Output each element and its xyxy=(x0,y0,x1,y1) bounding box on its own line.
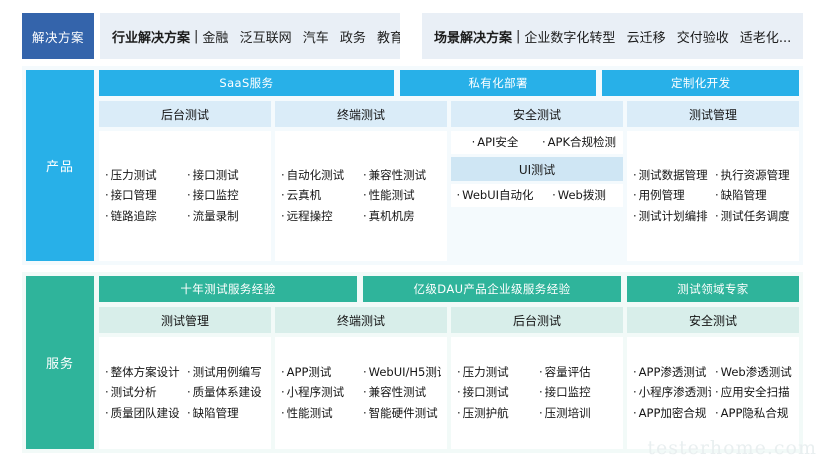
capability-item: 压测培训 xyxy=(539,407,617,420)
capability-item: 小程序渗透测试 xyxy=(633,386,711,399)
industry-tag[interactable]: 金融 xyxy=(202,31,228,46)
column-1: 后台测试压力测试接口测试接口管理接口监控链路追踪流量录制 xyxy=(99,101,271,261)
capability-list: 整体方案设计测试用例编写测试分析质量体系建设质量团队建设缺陷管理 xyxy=(105,366,265,420)
industry-tag-more[interactable]: 教育... xyxy=(377,31,400,46)
service-band: 十年测试服务经验 xyxy=(99,276,357,302)
product-band: 定制化开发 xyxy=(602,70,799,96)
column-body: API安全APK合规检测UI测试WebUI自动化Web拨测 xyxy=(451,131,623,261)
scene-tag[interactable]: 云迁移 xyxy=(627,31,666,46)
scene-tag[interactable]: 企业数字化转型 xyxy=(524,31,615,46)
column-body: 测试数据管理执行资源管理用例管理缺陷管理测试计划编排测试任务调度 xyxy=(627,131,799,261)
capability-item: 测试计划编排 xyxy=(633,210,711,223)
capability-list: 压力测试接口测试接口管理接口监控链路追踪流量录制 xyxy=(105,169,265,223)
capability-item: WebUI自动化 xyxy=(455,189,535,202)
capability-item: 接口测试 xyxy=(187,169,265,182)
capability-item: 质量团队建设 xyxy=(105,407,183,420)
service-panel: 服务 十年测试服务经验亿级DAU产品企业级服务经验测试领域专家 测试管理整体方案… xyxy=(22,272,803,453)
sub-section-header[interactable]: UI测试 xyxy=(451,157,623,181)
column-body: 压力测试容量评估接口测试接口监控压测护航压测培训 xyxy=(451,337,623,449)
column-body: 压力测试接口测试接口管理接口监控链路追踪流量录制 xyxy=(99,131,271,261)
capability-item: 性能测试 xyxy=(281,407,359,420)
capability-item: APP加密合规 xyxy=(633,407,711,420)
product-band: 私有化部署 xyxy=(400,70,597,96)
capability-item: 用例管理 xyxy=(633,189,711,202)
column-2: 终端测试自动化测试兼容性测试云真机性能测试远程操控真机机房 xyxy=(275,101,447,261)
column-header[interactable]: 安全测试 xyxy=(451,101,623,127)
scene-tag[interactable]: 交付验收 xyxy=(677,31,729,46)
capability-item: 接口监控 xyxy=(539,386,617,399)
capability-item: 执行资源管理 xyxy=(715,169,793,182)
capability-item: 缺陷管理 xyxy=(187,407,265,420)
column-header[interactable]: 安全测试 xyxy=(627,307,799,333)
capability-item: 压力测试 xyxy=(105,169,183,182)
capability-item: 接口管理 xyxy=(105,189,183,202)
industry-solutions-label: 行业解决方案 xyxy=(112,27,190,46)
capability-item: 链路追踪 xyxy=(105,210,183,223)
scene-solutions-group: 场景解决方案 | 企业数字化转型 云迁移 交付验收 适老化... xyxy=(422,13,803,59)
column-2: 终端测试APP测试WebUI/H5测试小程序测试兼容性测试性能测试智能硬件测试 xyxy=(275,307,447,449)
service-experience-bands: 十年测试服务经验亿级DAU产品企业级服务经验测试领域专家 xyxy=(99,276,799,302)
column-header[interactable]: 测试管理 xyxy=(627,101,799,127)
column-body: APP渗透测试Web渗透测试小程序渗透测试应用安全扫描APP加密合规APP隐私合… xyxy=(627,337,799,449)
capability-item: APP测试 xyxy=(281,366,359,379)
column-header[interactable]: 终端测试 xyxy=(275,307,447,333)
column-1: 测试管理整体方案设计测试用例编写测试分析质量体系建设质量团队建设缺陷管理 xyxy=(99,307,271,449)
product-band: SaaS服务 xyxy=(99,70,394,96)
column-header[interactable]: 终端测试 xyxy=(275,101,447,127)
industry-tag[interactable]: 泛互联网 xyxy=(240,31,292,46)
column-3: 后台测试压力测试容量评估接口测试接口监控压测护航压测培训 xyxy=(451,307,623,449)
capability-item: 测试分析 xyxy=(105,386,183,399)
product-panel: 产品 SaaS服务私有化部署定制化开发 后台测试压力测试接口测试接口管理接口监控… xyxy=(22,66,803,265)
product-columns: 后台测试压力测试接口测试接口管理接口监控链路追踪流量录制终端测试自动化测试兼容性… xyxy=(99,101,799,261)
service-columns: 测试管理整体方案设计测试用例编写测试分析质量体系建设质量团队建设缺陷管理终端测试… xyxy=(99,307,799,449)
capability-item: 压测护航 xyxy=(457,407,535,420)
capability-item: API安全 xyxy=(455,136,535,149)
capability-list: WebUI自动化Web拨测 xyxy=(455,189,619,202)
industry-tag[interactable]: 汽车 xyxy=(303,31,329,46)
capability-item: 兼容性测试 xyxy=(363,386,441,399)
industry-tag[interactable]: 政务 xyxy=(340,31,366,46)
column-4: 安全测试APP渗透测试Web渗透测试小程序渗透测试应用安全扫描APP加密合规AP… xyxy=(627,307,799,449)
service-panel-body: 十年测试服务经验亿级DAU产品企业级服务经验测试领域专家 测试管理整体方案设计测… xyxy=(99,276,799,449)
scene-separator: | xyxy=(516,29,520,44)
product-side-label: 产品 xyxy=(26,70,94,261)
product-panel-body: SaaS服务私有化部署定制化开发 后台测试压力测试接口测试接口管理接口监控链路追… xyxy=(99,70,799,261)
industry-separator: | xyxy=(194,29,198,44)
capability-item: 缺陷管理 xyxy=(715,189,793,202)
column-body: APP测试WebUI/H5测试小程序测试兼容性测试性能测试智能硬件测试 xyxy=(275,337,447,449)
capability-item: 性能测试 xyxy=(363,189,441,202)
sub-section-items: WebUI自动化Web拨测 xyxy=(451,184,623,207)
capability-item: 接口监控 xyxy=(187,189,265,202)
capability-item: 云真机 xyxy=(281,189,359,202)
capability-list: APP测试WebUI/H5测试小程序测试兼容性测试性能测试智能硬件测试 xyxy=(281,366,441,420)
capability-item: 容量评估 xyxy=(539,366,617,379)
column-header[interactable]: 测试管理 xyxy=(99,307,271,333)
column-4: 测试管理测试数据管理执行资源管理用例管理缺陷管理测试计划编排测试任务调度 xyxy=(627,101,799,261)
capability-list: APP渗透测试Web渗透测试小程序渗透测试应用安全扫描APP加密合规APP隐私合… xyxy=(633,366,793,420)
capability-item: 应用安全扫描 xyxy=(715,386,793,399)
product-offering-bands: SaaS服务私有化部署定制化开发 xyxy=(99,70,799,96)
capability-list: 压力测试容量评估接口测试接口监控压测护航压测培训 xyxy=(457,366,617,420)
capability-item: 测试用例编写 xyxy=(187,366,265,379)
capability-item: WebUI/H5测试 xyxy=(363,366,441,379)
capability-item: Web渗透测试 xyxy=(715,366,793,379)
capability-item: 整体方案设计 xyxy=(105,366,183,379)
capability-item: 测试任务调度 xyxy=(715,210,793,223)
capability-item: 接口测试 xyxy=(457,386,535,399)
capability-item: 压力测试 xyxy=(457,366,535,379)
industry-solution-tags: 金融 泛互联网 汽车 政务 教育... xyxy=(202,27,400,46)
column-body: 自动化测试兼容性测试云真机性能测试远程操控真机机房 xyxy=(275,131,447,261)
capability-item: 自动化测试 xyxy=(281,169,359,182)
service-band: 亿级DAU产品企业级服务经验 xyxy=(363,276,621,302)
column-header[interactable]: 后台测试 xyxy=(99,101,271,127)
capability-item: 测试数据管理 xyxy=(633,169,711,182)
service-band: 测试领域专家 xyxy=(627,276,799,302)
capability-list: 自动化测试兼容性测试云真机性能测试远程操控真机机房 xyxy=(281,169,441,223)
capability-item: 兼容性测试 xyxy=(363,169,441,182)
capability-item: 真机机房 xyxy=(363,210,441,223)
column-body: 整体方案设计测试用例编写测试分析质量体系建设质量团队建设缺陷管理 xyxy=(99,337,271,449)
capability-item: 远程操控 xyxy=(281,210,359,223)
capability-list: API安全APK合规检测 xyxy=(455,136,619,149)
solutions-badge[interactable]: 解决方案 xyxy=(22,13,94,59)
capability-item: Web拨测 xyxy=(539,189,619,202)
service-side-label: 服务 xyxy=(26,276,94,449)
column-header[interactable]: 后台测试 xyxy=(451,307,623,333)
scene-tag-more[interactable]: 适老化... xyxy=(740,31,791,46)
industry-solutions-group: 行业解决方案 | 金融 泛互联网 汽车 政务 教育... xyxy=(100,13,400,59)
column-3: 安全测试API安全APK合规检测UI测试WebUI自动化Web拨测 xyxy=(451,101,623,261)
capability-item: APP隐私合规 xyxy=(715,407,793,420)
scene-solution-tags: 企业数字化转型 云迁移 交付验收 适老化... xyxy=(524,27,798,46)
capability-item: APP渗透测试 xyxy=(633,366,711,379)
capability-item: 质量体系建设 xyxy=(187,386,265,399)
capability-list: 测试数据管理执行资源管理用例管理缺陷管理测试计划编排测试任务调度 xyxy=(633,169,793,223)
sub-section-items: API安全APK合规检测 xyxy=(451,131,623,154)
scene-solutions-label: 场景解决方案 xyxy=(434,27,512,46)
capability-item: 小程序测试 xyxy=(281,386,359,399)
capability-item: 流量录制 xyxy=(187,210,265,223)
capability-item: APK合规检测 xyxy=(539,136,619,149)
solutions-bar: 解决方案 行业解决方案 | 金融 泛互联网 汽车 政务 教育... 场景解决方案… xyxy=(22,13,803,59)
capability-item: 智能硬件测试 xyxy=(363,407,441,420)
